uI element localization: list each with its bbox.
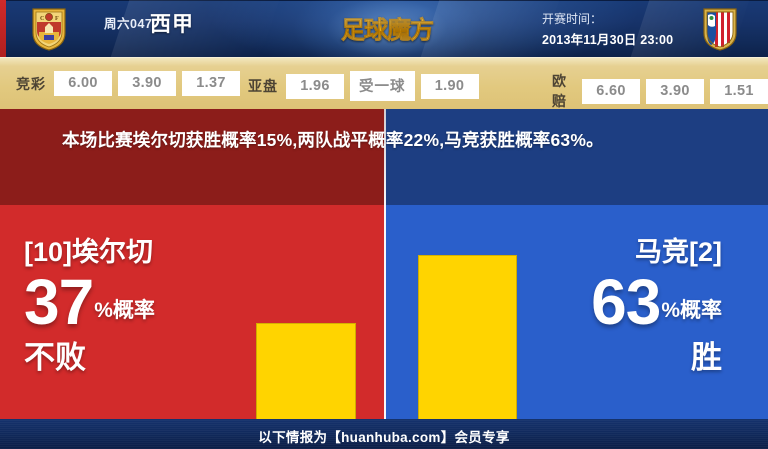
away-percent-suffix: %概率: [661, 294, 722, 333]
odds-value-home[interactable]: 1.96: [286, 74, 344, 99]
odds-group-european: 欧赔 6.60 3.90 1.51: [552, 71, 768, 111]
odds-value-draw[interactable]: 3.90: [646, 79, 704, 104]
odds-bar: 竞彩 6.00 3.90 1.37 亚盘 1.96 受一球 1.90 欧赔 6.…: [0, 57, 768, 110]
svg-text:F: F: [55, 16, 59, 22]
home-outcome-label: 不败: [24, 339, 360, 377]
league-name: 西甲: [150, 8, 194, 38]
odds-group-label: 亚盘: [248, 76, 278, 96]
odds-value-handicap[interactable]: 受一球: [350, 71, 415, 101]
atletico-madrid-crest-icon: [697, 6, 743, 52]
odds-value-home[interactable]: 6.60: [582, 79, 640, 104]
summary-banner-right-bg: [385, 109, 768, 205]
footer-bar: 以下情报为【huanhuba.com】会员专享: [0, 419, 768, 449]
svg-text:C: C: [40, 16, 44, 22]
odds-value-away[interactable]: 1.90: [421, 74, 479, 99]
site-logo-text: 足球魔方: [322, 10, 452, 45]
away-outcome-label: 胜: [408, 339, 722, 377]
header-accent-stripe: [0, 0, 6, 57]
home-team-name: [10]埃尔切: [24, 235, 360, 269]
summary-banner-left-bg: [0, 109, 385, 205]
match-probability-infographic: C F 周六047 西甲 足球魔方 开赛时间： 2013年11月30日 23:0…: [0, 0, 768, 449]
header-bar: C F 周六047 西甲 足球魔方 开赛时间： 2013年11月30日 23:0…: [0, 0, 768, 57]
odds-value-home[interactable]: 6.00: [54, 71, 112, 96]
odds-value-draw[interactable]: 3.90: [118, 71, 176, 96]
kickoff-time-value: 2013年11月30日 23:00: [542, 29, 673, 48]
probability-panel: 本场比赛埃尔切获胜概率15%,两队战平概率22%,马竞获胜概率63%。 [10]…: [0, 109, 768, 419]
kickoff-time-label: 开赛时间：: [542, 10, 602, 27]
site-logo[interactable]: 足球魔方: [322, 0, 452, 57]
away-percent-row: 63 %概率: [408, 271, 722, 333]
odds-value-away[interactable]: 1.37: [182, 71, 240, 96]
odds-value-away[interactable]: 1.51: [710, 79, 768, 104]
odds-group-label: 竞彩: [16, 74, 46, 94]
home-percent-value: 37: [24, 271, 93, 333]
home-team-stats: [10]埃尔切 37 %概率 不败: [0, 235, 360, 377]
elche-cf-crest-icon: C F: [26, 6, 72, 52]
odds-group-asian: 亚盘 1.96 受一球 1.90: [248, 71, 479, 101]
away-team-name: 马竞[2]: [408, 235, 722, 269]
odds-group-label: 欧赔: [552, 71, 574, 111]
away-percent-value: 63: [591, 271, 660, 333]
match-round-label: 周六047: [104, 13, 152, 32]
away-team-stats: 马竞[2] 63 %概率 胜: [408, 235, 744, 377]
footer-promo-text: 以下情报为【huanhuba.com】会员专享: [0, 426, 768, 446]
home-percent-suffix: %概率: [94, 294, 155, 333]
panel-divider: [384, 109, 386, 419]
odds-group-jingcai: 竞彩 6.00 3.90 1.37: [16, 71, 240, 96]
home-percent-row: 37 %概率: [24, 271, 360, 333]
